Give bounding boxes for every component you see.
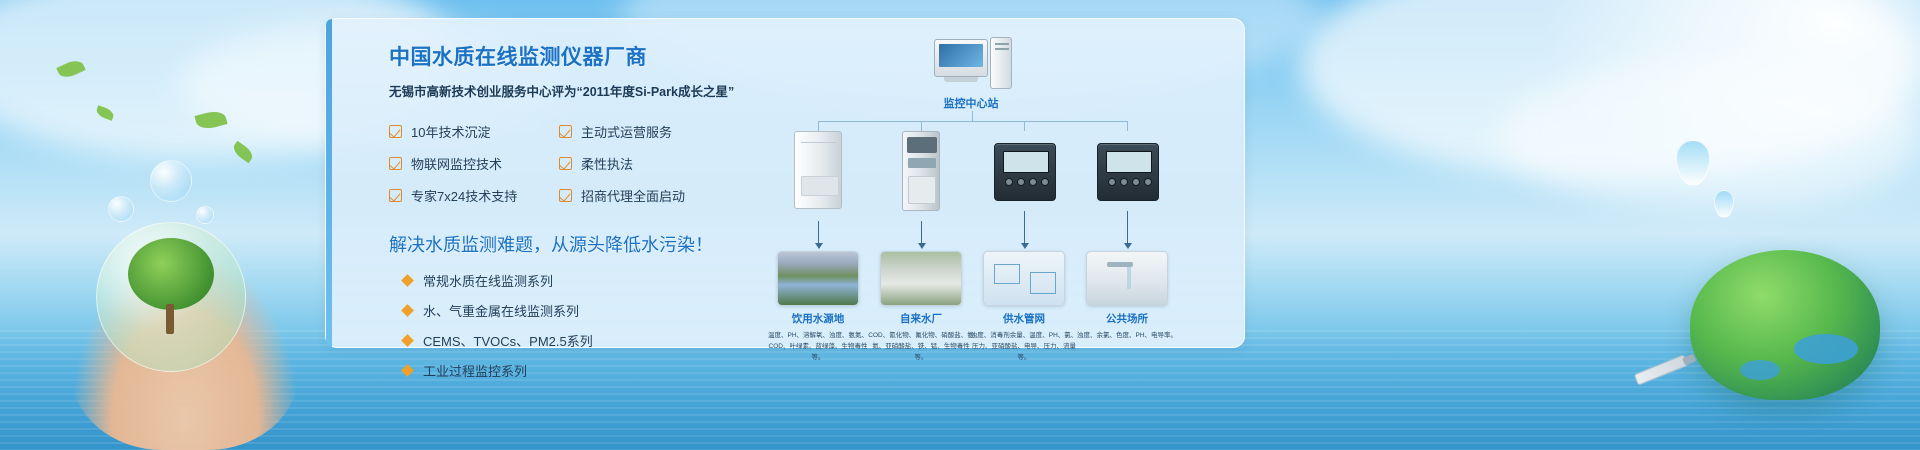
checklist-item-label: 10年技术沉淀: [411, 122, 490, 141]
scenario-photo-pipe-network: [983, 251, 1065, 306]
scenario-title: 供水管网: [969, 311, 1079, 326]
analyzer-door: [908, 176, 936, 204]
scenario-caption: 公共场所 浊度、余氯、色度、PH、电导率。: [1072, 311, 1182, 341]
controller-button: [1132, 178, 1140, 186]
list-item: 水、气重金属在线监测系列: [389, 301, 719, 320]
page-title: 中国水质在线监测仪器厂商: [389, 41, 719, 71]
diagram-drop-line: [1024, 121, 1025, 131]
list-item-label: CEMS、TVOCs、PM2.5系列: [423, 331, 593, 350]
banner-text-column: 中国水质在线监测仪器厂商 无锡市高新技术创业服务中心评为“2011年度Si-Pa…: [389, 41, 719, 391]
checklist-item-label: 主动式运营服务: [581, 122, 672, 141]
diagram-drop-line: [1127, 121, 1128, 131]
controller-button: [1005, 178, 1013, 186]
analyzer-module: [908, 158, 936, 168]
checkbox-icon: [559, 125, 572, 138]
scenario-photo-public-place: [1086, 251, 1168, 306]
checkbox-icon: [389, 189, 402, 202]
banner-subtitle: 无锡市高新技术创业服务中心评为“2011年度Si-Park成长之星”: [389, 81, 719, 100]
checkbox-icon: [559, 157, 572, 170]
analyzer-cabinet-icon: [902, 131, 940, 211]
monitor-base: [944, 77, 978, 82]
controller-button: [1120, 178, 1128, 186]
controller-button: [1144, 178, 1152, 186]
checklist-item: 物联网监控技术: [389, 154, 559, 173]
arrow-down-icon: [921, 221, 922, 243]
controller-button: [1041, 178, 1049, 186]
controller-panel-icon: [994, 143, 1056, 201]
controller-buttons: [1108, 178, 1152, 186]
arrow-down-icon: [1024, 211, 1025, 243]
scenario-description: 温度、PH、溶解氧、浊度、氨氮、COD、叶绿素、蓝绿藻、生物毒性等。: [763, 330, 873, 363]
arrow-down-icon: [818, 221, 819, 243]
list-item: CEMS、TVOCs、PM2.5系列: [389, 331, 719, 350]
controller-button: [1017, 178, 1025, 186]
device-analyzer-cabinet: [902, 131, 940, 211]
banner-card: 中国水质在线监测仪器厂商 无锡市高新技术创业服务中心评为“2011年度Si-Pa…: [325, 18, 1245, 348]
scenario-caption: 饮用水源地 温度、PH、溶解氧、浊度、氨氮、COD、叶绿素、蓝绿藻、生物毒性等。: [763, 311, 873, 363]
desktop-computer-icon: [934, 39, 1012, 91]
device-water-cabinet: [794, 131, 842, 209]
analyzer-display: [907, 137, 937, 153]
scenario-description: 浊度、消毒剂余量、温度、PH、氯、压力、亚硝酸盐、电导、压力、流量等。: [969, 330, 1079, 363]
globe-water-area: [1740, 360, 1780, 380]
arrow-down-icon: [1127, 211, 1128, 243]
cloud: [1500, 60, 1920, 210]
list-item: 常规水质在线监测系列: [389, 271, 719, 290]
diagram-drop-line: [921, 121, 922, 131]
scenario-caption: 供水管网 浊度、消毒剂余量、温度、PH、氯、压力、亚硝酸盐、电导、压力、流量等。: [969, 311, 1079, 363]
diamond-bullet-icon: [401, 304, 414, 317]
controller-screen: [1003, 151, 1049, 173]
scenario-title: 公共场所: [1072, 311, 1182, 326]
checklist-item: 招商代理全面启动: [559, 186, 729, 205]
diamond-bullet-icon: [401, 334, 414, 347]
list-item-label: 常规水质在线监测系列: [423, 271, 553, 290]
diamond-bullet-icon: [401, 364, 414, 377]
list-item: 工业过程监控系列: [389, 361, 719, 380]
scenario-photo-river-source: [777, 251, 859, 306]
bubble: [150, 160, 192, 202]
scenario-title: 自来水厂: [866, 311, 976, 326]
system-diagram: 监控中心站: [756, 33, 1226, 343]
device-controller-1: [994, 143, 1056, 201]
monitor-icon: [934, 39, 988, 77]
checkbox-icon: [389, 157, 402, 170]
controller-button: [1029, 178, 1037, 186]
checklist-item: 专家7x24技术支持: [389, 186, 559, 205]
device-controller-2: [1097, 143, 1159, 201]
pc-tower-icon: [990, 37, 1012, 89]
checklist-item: 柔性执法: [559, 154, 729, 173]
diagram-bus-line: [818, 121, 1128, 122]
feature-checklist: 10年技术沉淀 主动式运营服务 物联网监控技术 柔性执法 专家7x24技术支持 …: [389, 122, 719, 205]
bubble: [108, 196, 134, 222]
controller-buttons: [1005, 178, 1049, 186]
checklist-item-label: 柔性执法: [581, 154, 633, 173]
checkbox-icon: [389, 125, 402, 138]
scenario-description: 浊度、余氯、色度、PH、电导率。: [1072, 330, 1182, 341]
tree-trunk: [166, 304, 174, 334]
globe-water-area: [1794, 334, 1858, 364]
controller-button: [1108, 178, 1116, 186]
banner-headline: 解决水质监测难题，从源头降低水污染！: [389, 231, 719, 257]
green-earth-illustration: [1690, 250, 1880, 400]
monitor-screen: [939, 44, 983, 67]
product-series-list: 常规水质在线监测系列 水、气重金属在线监测系列 CEMS、TVOCs、PM2.5…: [389, 271, 719, 380]
diagram-stem: [972, 111, 973, 121]
checklist-item-label: 专家7x24技术支持: [411, 186, 517, 205]
controller-screen: [1106, 151, 1152, 173]
water-cabinet-icon: [794, 131, 842, 209]
bubble: [196, 206, 214, 224]
diagram-center-label: 监控中心站: [896, 95, 1046, 111]
controller-panel-icon: [1097, 143, 1159, 201]
tree-icon: [128, 238, 214, 310]
checklist-item: 10年技术沉淀: [389, 122, 559, 141]
checklist-item-label: 物联网监控技术: [411, 154, 502, 173]
list-item-label: 水、气重金属在线监测系列: [423, 301, 579, 320]
checklist-item: 主动式运营服务: [559, 122, 729, 141]
diamond-bullet-icon: [401, 274, 414, 287]
scenario-description: COD、氰化物、氟化物、硝酸盐、氨氮、亚硝酸盐、铁、锰、生物毒性等。: [866, 330, 976, 363]
scenario-title: 饮用水源地: [763, 311, 873, 326]
checklist-item-label: 招商代理全面启动: [581, 186, 685, 205]
list-item-label: 工业过程监控系列: [423, 361, 527, 380]
checkbox-icon: [559, 189, 572, 202]
diagram-drop-line: [818, 121, 819, 131]
scenario-photo-waterworks: [880, 251, 962, 306]
scenario-caption: 自来水厂 COD、氰化物、氟化物、硝酸盐、氨氮、亚硝酸盐、铁、锰、生物毒性等。: [866, 311, 976, 363]
